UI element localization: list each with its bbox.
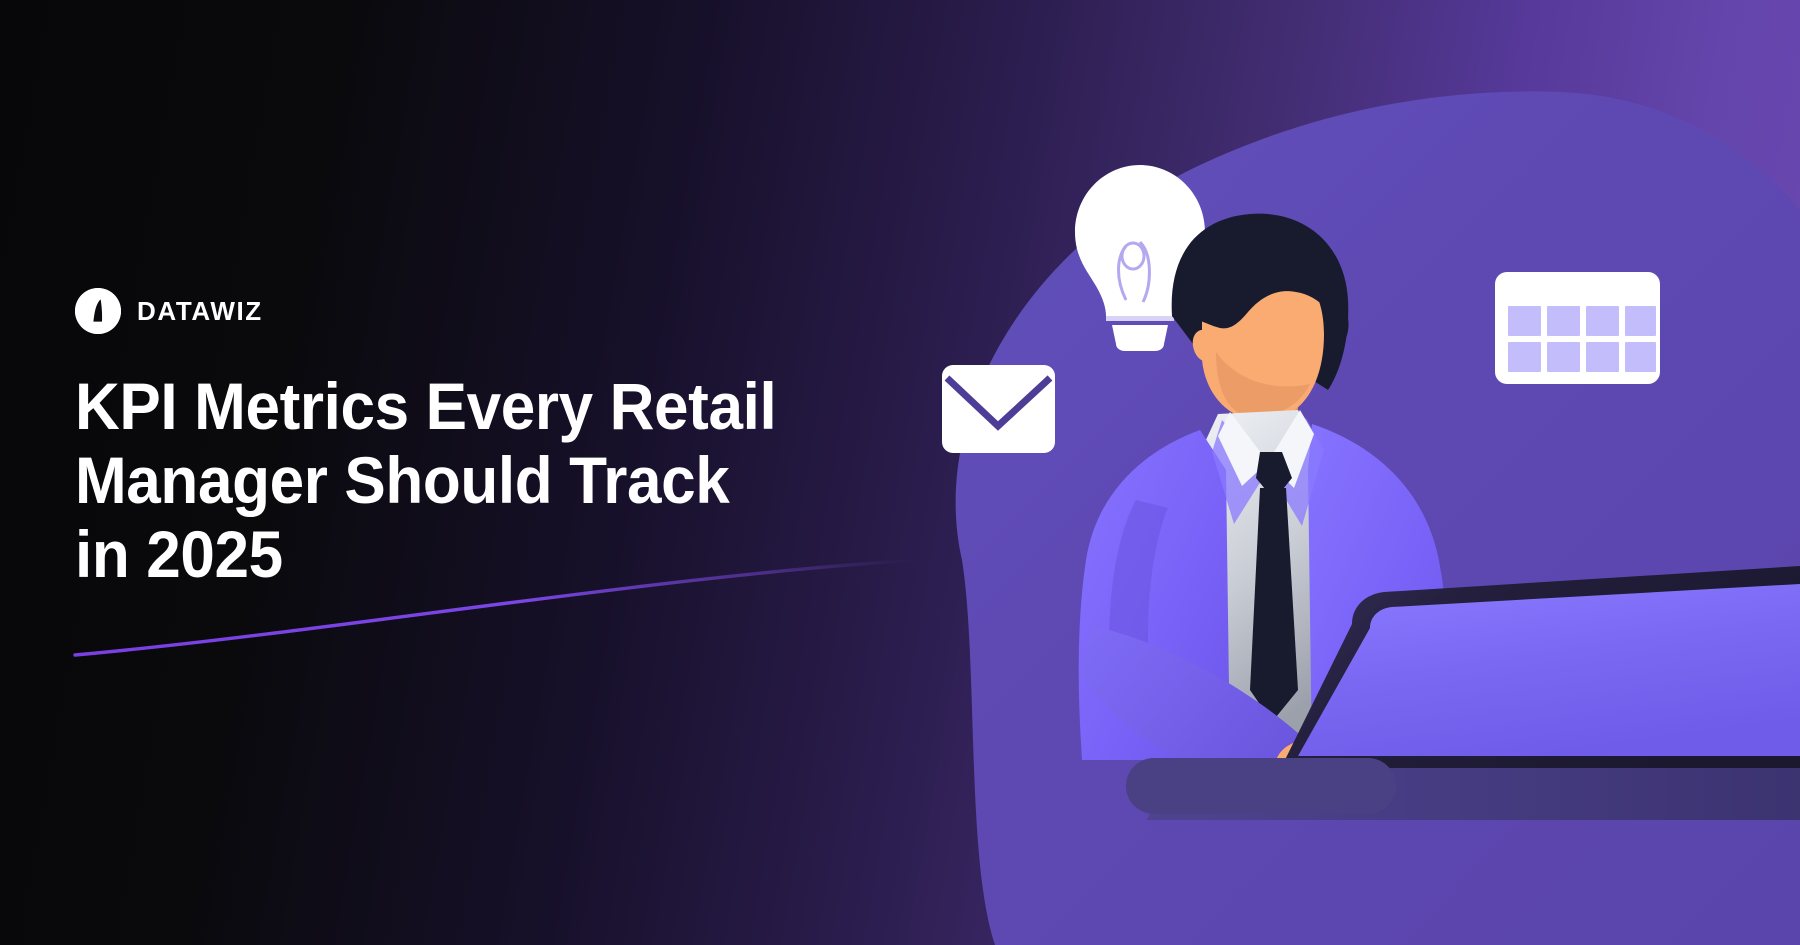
table-grid-icon — [1495, 272, 1660, 384]
hero-text-column: DATAWIZ KPI Metrics Every Retail Manager… — [75, 288, 895, 592]
page-title: KPI Metrics Every Retail Manager Should … — [75, 370, 789, 592]
kpi-banner: DATAWIZ KPI Metrics Every Retail Manager… — [0, 0, 1800, 945]
brand-name: DATAWIZ — [137, 298, 263, 324]
envelope-icon — [942, 365, 1055, 453]
retail-manager-illustration — [900, 0, 1800, 945]
datawiz-droplet-logo-icon — [75, 288, 121, 334]
brand-lockup: DATAWIZ — [75, 288, 895, 334]
